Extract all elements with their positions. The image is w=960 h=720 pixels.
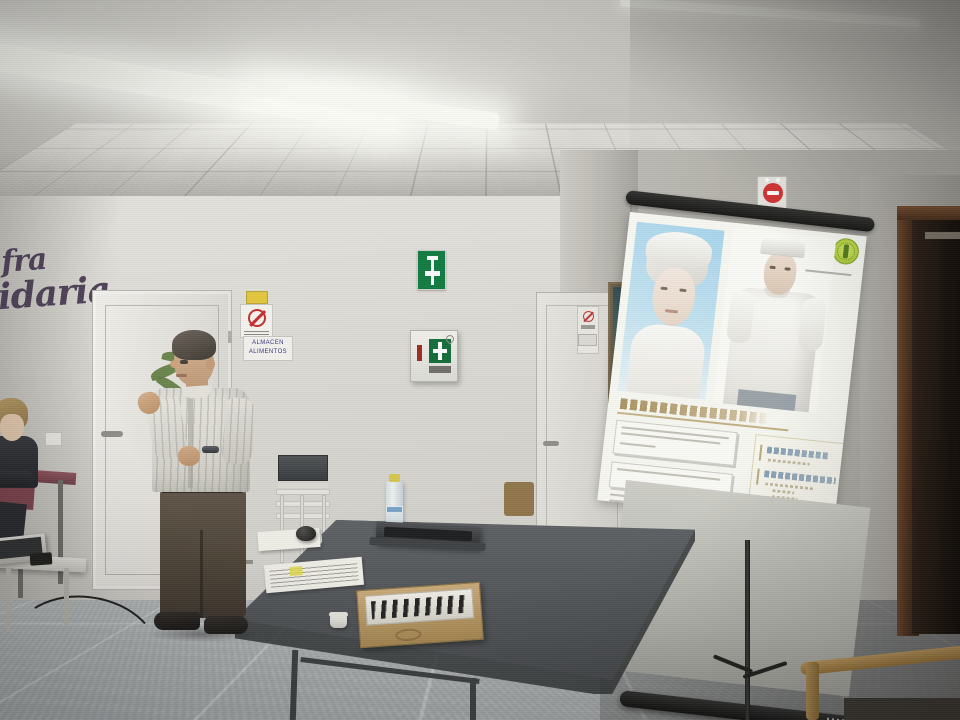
side-table-leg xyxy=(6,568,11,632)
column-prohibition-sign-icon xyxy=(577,306,599,354)
mural-line-2: lidaria xyxy=(0,272,106,314)
foreground-chair[interactable] xyxy=(800,640,960,720)
wall-mural-text: afra lidaria xyxy=(0,242,106,315)
cross-horizontal xyxy=(425,271,440,276)
first-aid-sign-icon xyxy=(417,250,446,290)
chair-post xyxy=(806,662,819,720)
presenter-ear xyxy=(206,358,215,370)
laptop-computer[interactable] xyxy=(375,521,480,548)
computer-mouse[interactable] xyxy=(296,526,316,541)
presenter-mouth xyxy=(176,374,187,377)
cabinet-handle xyxy=(417,345,422,361)
attendee-arm xyxy=(0,470,34,487)
door-handle[interactable] xyxy=(543,441,559,446)
cross-horizontal xyxy=(433,349,447,353)
screen-tripod-pole xyxy=(745,540,750,720)
pen-box[interactable] xyxy=(356,582,484,649)
presenter-shoe xyxy=(204,616,248,634)
sign-mount-screws xyxy=(762,177,784,182)
screen-glare xyxy=(597,212,867,525)
chair-gap xyxy=(278,483,328,488)
fluorescent-light-icon xyxy=(0,38,399,134)
bottle-cap xyxy=(389,474,400,482)
standing-presenter xyxy=(132,330,262,648)
chair-back xyxy=(504,482,534,516)
wooden-door[interactable] xyxy=(912,214,960,634)
side-table-leg xyxy=(64,568,69,626)
bottle-label-stripe xyxy=(387,507,402,512)
cabinet-label xyxy=(429,366,451,373)
door-handle[interactable] xyxy=(101,431,123,437)
presenter-right-arm xyxy=(221,397,257,465)
chair-back xyxy=(278,455,328,481)
screen-surface xyxy=(597,212,867,525)
trouser-seam xyxy=(200,530,203,618)
shirt-placket xyxy=(188,396,193,488)
wooden-door-lintel xyxy=(897,206,960,220)
chair-leg xyxy=(280,495,284,563)
presenter-eyebrow xyxy=(178,354,191,357)
plastic-cup[interactable] xyxy=(330,615,347,628)
presenter-right-hand xyxy=(178,446,200,466)
presenter-shoe xyxy=(154,612,200,630)
column-notice-plate xyxy=(578,334,597,346)
presenter-trousers xyxy=(160,490,246,618)
table-leg xyxy=(470,678,476,720)
attendee-face xyxy=(0,414,24,441)
cup-lid xyxy=(329,612,348,617)
first-aid-cabinet[interactable] xyxy=(410,330,458,382)
wristwatch xyxy=(202,446,219,453)
power-adapter xyxy=(30,552,53,566)
highlighted-mark xyxy=(289,566,303,576)
presenter-eye xyxy=(180,360,188,364)
document-text xyxy=(269,561,358,588)
wooden-door-glass xyxy=(925,232,960,239)
sign-topper xyxy=(246,291,268,304)
sign-caption xyxy=(581,325,595,329)
room-photo: afra lidaria ALMACEN ALIMENTOS xyxy=(0,0,960,720)
presenter-nose xyxy=(170,360,180,368)
chair-seat xyxy=(844,698,960,720)
presentation-slide xyxy=(597,212,867,525)
chair-backrest xyxy=(800,645,960,675)
